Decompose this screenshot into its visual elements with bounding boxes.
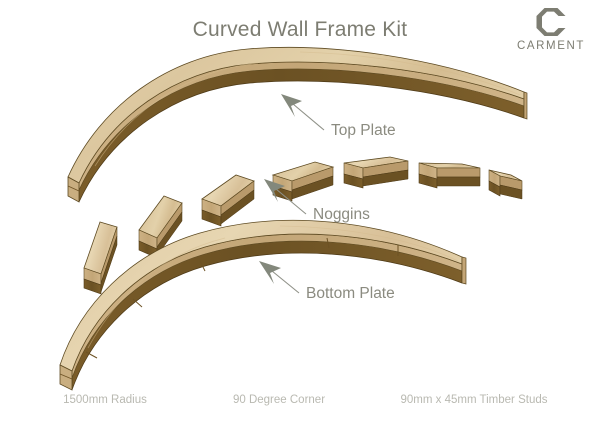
footer-notes: 1500mm Radius 90 Degree Corner 90mm x 45… (0, 394, 600, 406)
top-plate-arrowhead (281, 94, 302, 117)
callout-label-bottom-plate: Bottom Plate (306, 285, 395, 302)
footer-note-corner: 90 Degree Corner (214, 394, 344, 406)
noggin-block (202, 175, 254, 226)
illustration-page: Curved Wall Frame Kit CARMENT (0, 0, 600, 428)
noggin-block (489, 170, 522, 199)
top-plate-leader-line (293, 104, 324, 130)
callout-label-top-plate: Top Plate (331, 122, 396, 139)
footer-note-radius: 1500mm Radius (36, 394, 174, 406)
callout-top-plate: Top Plate (281, 94, 396, 139)
bottom-plate-arrowhead (259, 261, 281, 284)
bottom-plate-edge-dark (72, 240, 462, 390)
top-plate-right-end-cap (524, 92, 527, 119)
footer-note-studs: 90mm x 45mm Timber Studs (384, 394, 564, 406)
callout-label-noggins: Noggins (313, 206, 370, 223)
callout-bottom-plate: Bottom Plate (259, 261, 395, 302)
noggin-block (419, 163, 480, 188)
bottom-plate-assembly (60, 220, 466, 390)
bottom-plate-leader-line (272, 271, 299, 293)
frame-kit-diagram: Top Plate Noggins Bottom Plate (0, 0, 600, 428)
bottom-plate-right-end-cap (462, 257, 466, 284)
noggin-block (344, 157, 408, 188)
noggin-block (273, 162, 333, 201)
